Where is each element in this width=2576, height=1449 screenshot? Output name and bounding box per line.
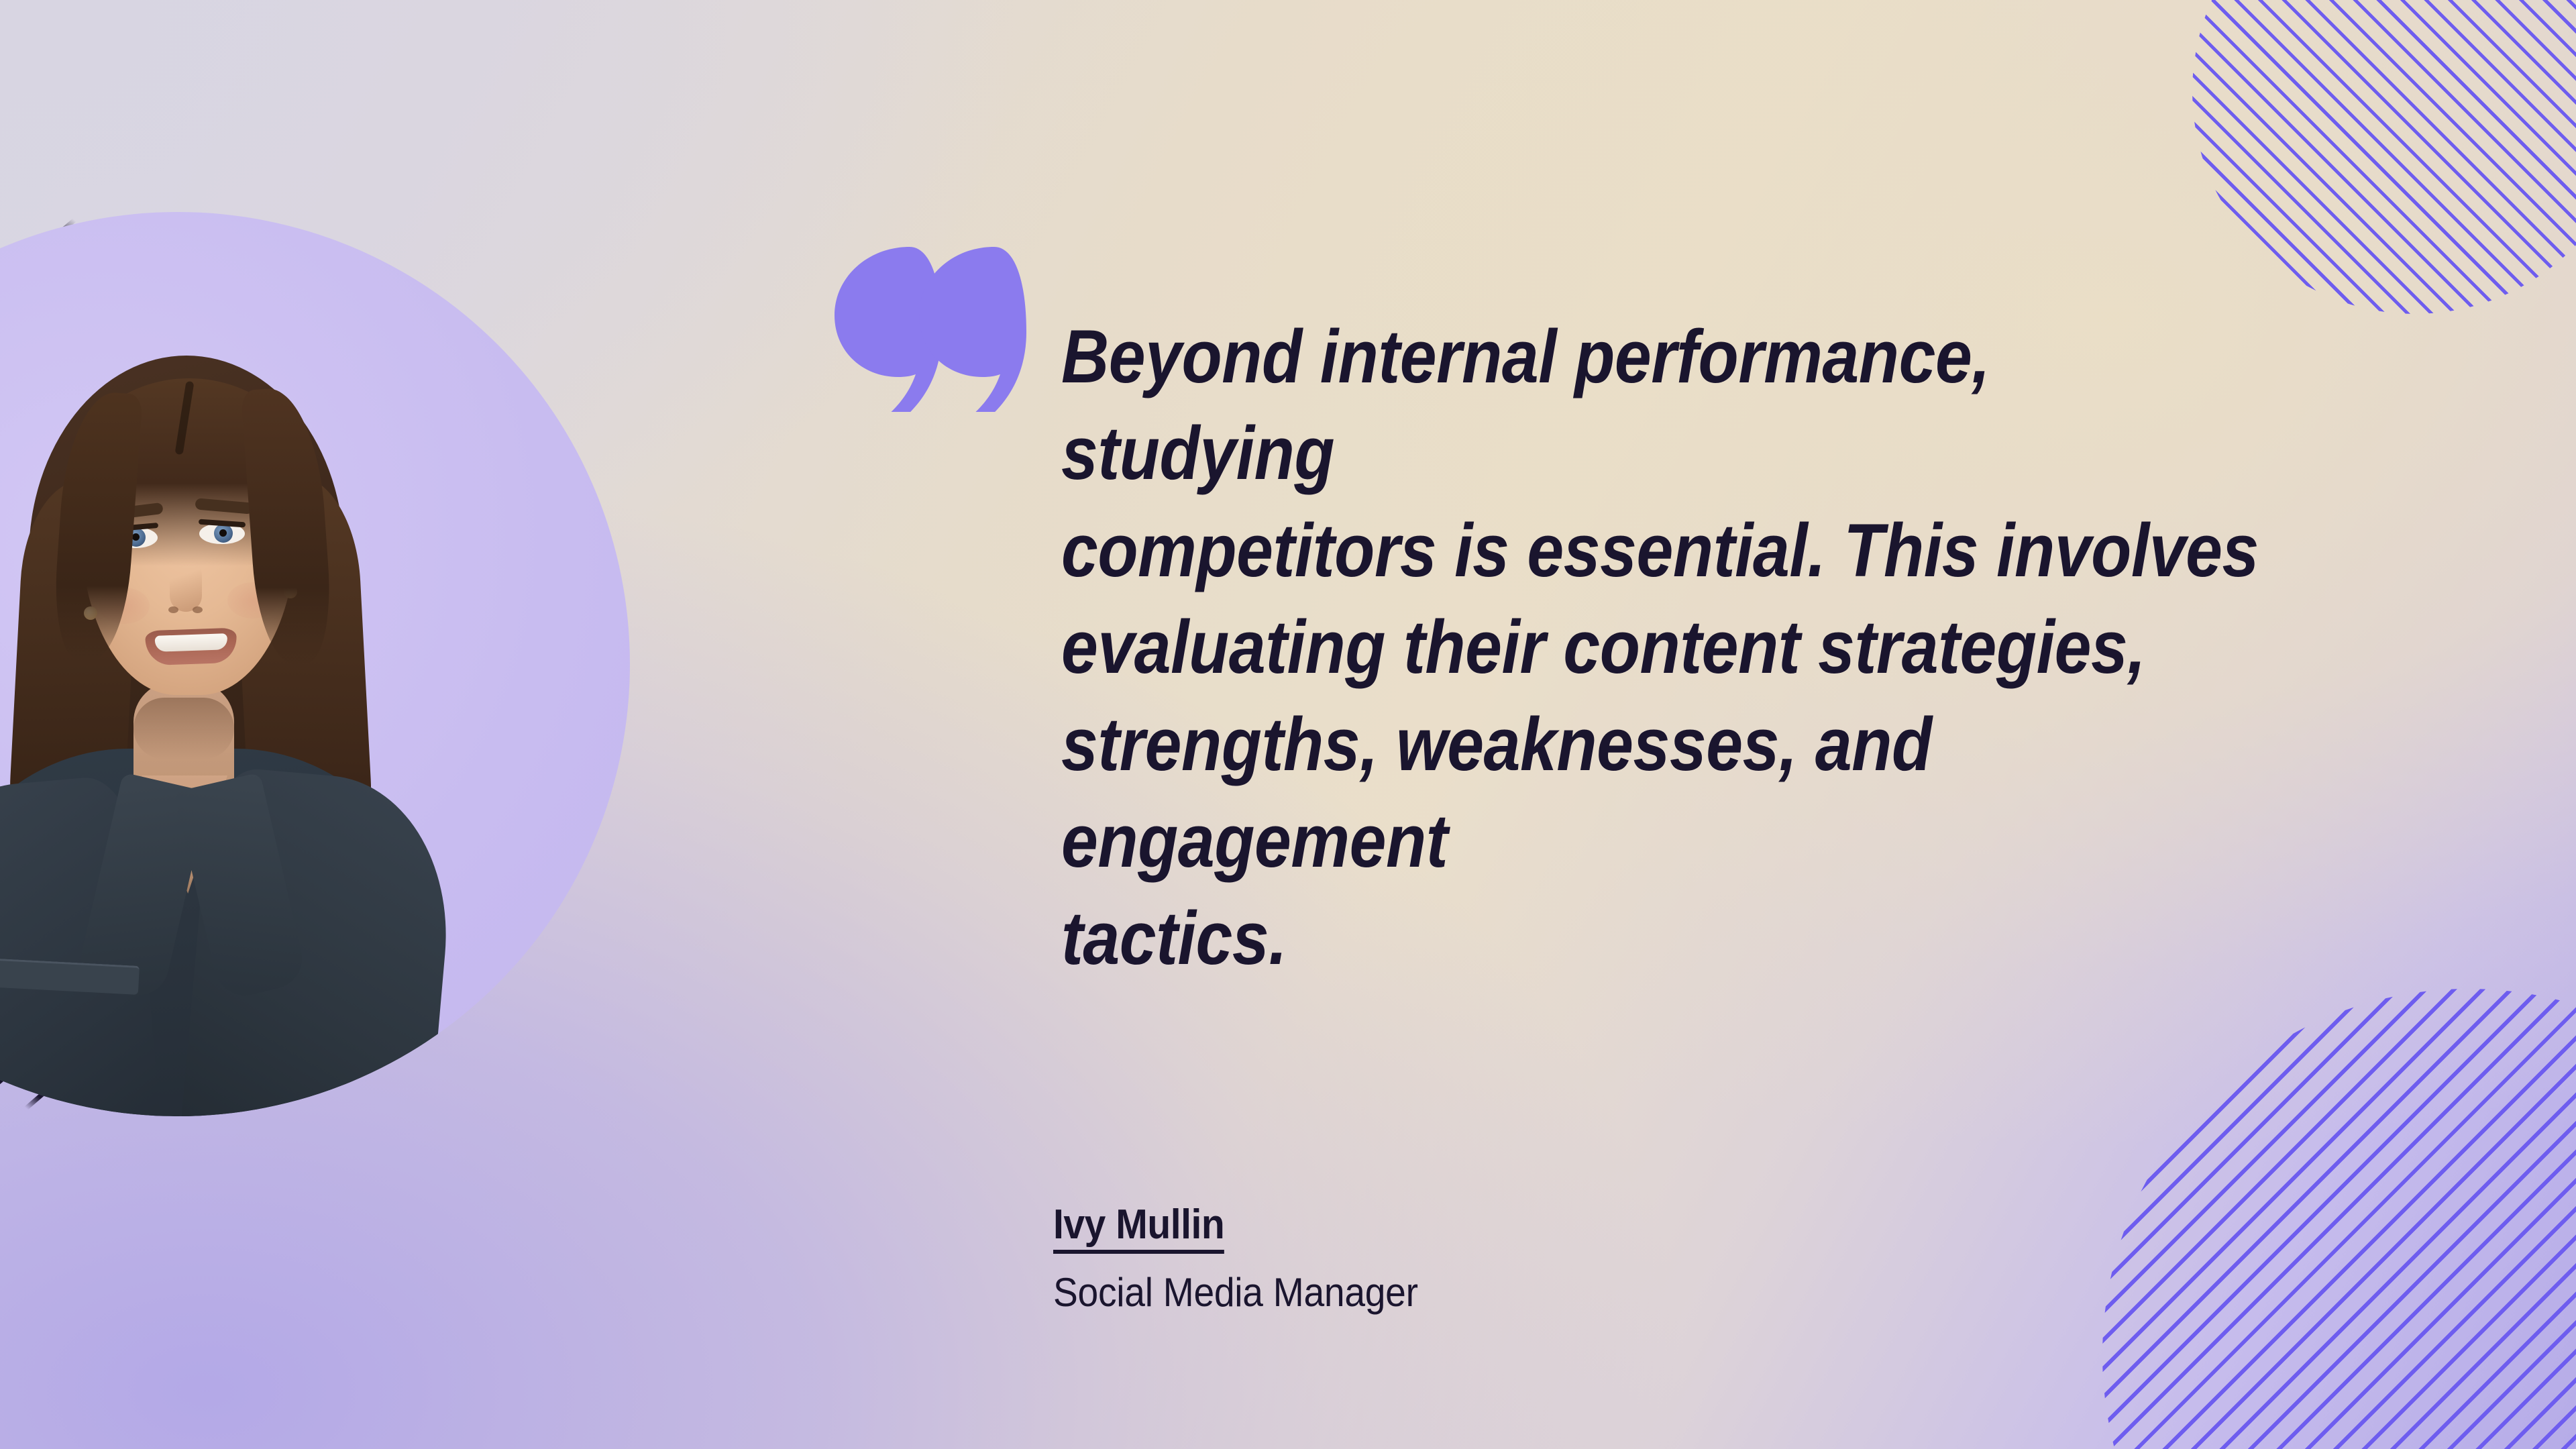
portrait-figure: [0, 212, 630, 1116]
portrait-pupil-right: [219, 529, 227, 537]
author-role: Social Media Manager: [1053, 1273, 1418, 1313]
author-name: Ivy Mullin: [1053, 1204, 1224, 1254]
portrait-nostril-left: [168, 606, 178, 613]
portrait-neck-shadow: [133, 698, 234, 759]
portrait-disc: [0, 212, 630, 1116]
portrait-teeth: [155, 633, 228, 652]
portrait-nose: [170, 561, 202, 612]
attribution: Ivy Mullin Social Media Manager: [1053, 1204, 1450, 1313]
closing-double-quote-icon: [835, 247, 1026, 412]
portrait-pupil-left: [132, 533, 140, 541]
quote-text: Beyond internal performance, studying co…: [1061, 309, 2277, 987]
testimonial-slide: Beyond internal performance, studying co…: [0, 0, 2576, 1449]
portrait-nostril-right: [193, 606, 203, 613]
